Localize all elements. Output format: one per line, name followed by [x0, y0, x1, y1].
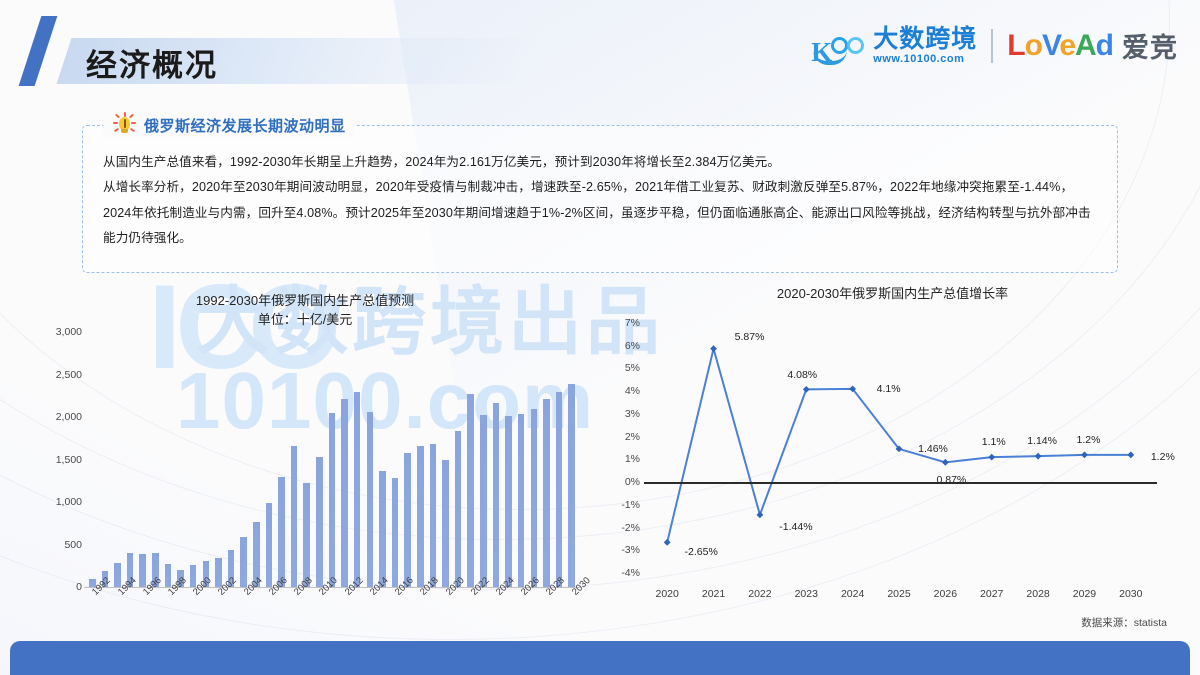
- line-y-tick: 2%: [625, 431, 640, 443]
- bar-column: [139, 554, 146, 587]
- callout-paragraph-1: 从国内生产总值来看，1992-2030年长期呈上升趋势，2024年为2.161万…: [103, 150, 1095, 175]
- callout-title: 俄罗斯经济发展长期波动明显: [144, 115, 346, 136]
- gdp-bar-chart: 1992-2030年俄罗斯国内生产总值预测 单位：十亿/美元 05001,000…: [20, 292, 590, 642]
- bar-column: [568, 384, 575, 587]
- line-y-tick: 0%: [625, 476, 640, 488]
- bar-column: [505, 416, 512, 587]
- bar-column: [165, 564, 172, 587]
- logo-lovead: LoVeAd 爱竞: [1007, 26, 1178, 65]
- logo-secondary-cn: 爱竞: [1122, 26, 1178, 65]
- bar-y-tick: 1,000: [56, 496, 82, 508]
- line-chart-plot-area: -2.65%5.87%-1.44%4.08%4.1%1.46%0.87%1.1%…: [644, 323, 1154, 573]
- bar-column: [367, 412, 374, 587]
- gdp-growth-line-chart: 2020-2030年俄罗斯国内生产总值增长率 7%6%5%4%3%2%1%0%-…: [600, 285, 1185, 645]
- line-chart-zero-line: [644, 482, 1157, 484]
- line-y-tick: 1%: [625, 453, 640, 465]
- line-x-tick: 2029: [1073, 588, 1096, 600]
- line-x-tick: 2025: [887, 588, 910, 600]
- bar-column: [291, 446, 298, 587]
- logo-primary-cn: 大数跨境: [873, 26, 977, 52]
- bar-column: [417, 446, 424, 587]
- bar-column: [480, 415, 487, 587]
- line-y-tick: -1%: [621, 499, 640, 511]
- line-x-tick: 2026: [934, 588, 957, 600]
- bar-column: [392, 478, 399, 587]
- bar-column: [266, 503, 273, 587]
- line-y-tick: -2%: [621, 522, 640, 534]
- bar-column: [556, 392, 563, 588]
- bar-column: [455, 431, 462, 587]
- bar-column: [215, 558, 222, 587]
- line-y-tick: 4%: [625, 385, 640, 397]
- line-x-tick: 2024: [841, 588, 864, 600]
- line-x-tick: 2030: [1119, 588, 1142, 600]
- bar-column: [341, 399, 348, 587]
- line-x-tick: 2028: [1026, 588, 1049, 600]
- insight-callout: 俄罗斯经济发展长期波动明显 从国内生产总值来看，1992-2030年长期呈上升趋…: [82, 125, 1118, 273]
- bar-column: [379, 471, 386, 587]
- line-y-tick: 6%: [625, 340, 640, 352]
- line-series-path: [667, 349, 1131, 543]
- bar-column: [543, 399, 550, 587]
- line-x-tick: 2021: [702, 588, 725, 600]
- bar-column: [493, 403, 500, 587]
- line-point-label: 1.14%: [1027, 435, 1057, 447]
- callout-header: 俄罗斯经济发展长期波动明显: [103, 113, 355, 137]
- line-chart-y-axis: 7%6%5%4%3%2%1%0%-1%-2%-3%-4%: [600, 323, 640, 573]
- callout-paragraph-2: 从增长率分析，2020年至2030年期间波动明显，2020年受疫情与制裁冲击，增…: [103, 175, 1095, 251]
- bar-column: [467, 394, 474, 587]
- bar-column: [303, 483, 310, 587]
- line-x-tick: 2022: [748, 588, 771, 600]
- line-data-point: [1081, 451, 1088, 458]
- bar-column: [329, 413, 336, 587]
- brand-logos: K 大数跨境 www.10100.com LoVeAd 爱竞: [811, 26, 1178, 65]
- line-x-tick: 2027: [980, 588, 1003, 600]
- line-data-point: [710, 345, 717, 352]
- line-data-point: [803, 386, 810, 393]
- line-y-tick: -3%: [621, 544, 640, 556]
- line-y-tick: 5%: [625, 362, 640, 374]
- bar-column: [518, 414, 525, 587]
- bar-column: [404, 453, 411, 587]
- bar-column: [354, 392, 361, 587]
- line-point-label: 4.1%: [877, 383, 901, 395]
- line-point-label: 1.1%: [982, 436, 1006, 448]
- line-point-label: -1.44%: [779, 521, 812, 533]
- bar-column: [316, 457, 323, 587]
- line-point-label: 1.2%: [1151, 451, 1175, 463]
- dashu-logo-icon: K: [811, 35, 867, 65]
- line-chart-x-axis: 2020202120222023202420252026202720282029…: [644, 588, 1154, 608]
- bar-y-tick: 2,000: [56, 411, 82, 423]
- bar-chart-plot-area: [86, 332, 578, 587]
- line-point-label: 1.46%: [918, 443, 948, 455]
- bar-chart-y-axis: 05001,0001,5002,0002,5003,000: [20, 332, 82, 587]
- line-chart-title: 2020-2030年俄罗斯国内生产总值增长率: [600, 285, 1185, 304]
- line-data-point: [664, 539, 671, 546]
- bar-column: [430, 444, 437, 587]
- line-data-point: [1127, 451, 1134, 458]
- bar-column: [442, 460, 449, 587]
- line-point-label: 5.87%: [735, 331, 765, 343]
- bar-y-tick: 2,500: [56, 369, 82, 381]
- line-data-point: [942, 459, 949, 466]
- bar-chart-title: 1992-2030年俄罗斯国内生产总值预测 单位：十亿/美元: [20, 292, 590, 330]
- logo-dashukuajing: K 大数跨境 www.10100.com: [811, 26, 977, 64]
- bar-column: [531, 409, 538, 588]
- lightbulb-icon: [112, 113, 136, 137]
- bar-column: [278, 477, 285, 588]
- line-x-tick: 2020: [655, 588, 678, 600]
- bar-y-tick: 0: [76, 581, 82, 593]
- line-y-tick: -4%: [621, 567, 640, 579]
- line-x-tick: 2023: [795, 588, 818, 600]
- bar-chart-x-axis: 1992199419961998200020022004200620082010…: [86, 590, 578, 640]
- line-y-tick: 3%: [625, 408, 640, 420]
- bar-y-tick: 3,000: [56, 326, 82, 338]
- line-data-point: [757, 511, 764, 518]
- bar-column: [240, 537, 247, 587]
- footer-bar: [10, 641, 1190, 675]
- line-point-label: 4.08%: [787, 369, 817, 381]
- line-data-point: [1035, 453, 1042, 460]
- logo-divider: [991, 29, 993, 63]
- source-note: 数据来源：statista: [1081, 615, 1167, 630]
- bar-y-tick: 500: [64, 539, 82, 551]
- line-point-label: -2.65%: [685, 546, 718, 558]
- bar-column: [114, 563, 121, 587]
- line-y-tick: 7%: [625, 317, 640, 329]
- line-point-label: 0.87%: [936, 474, 966, 486]
- logo-primary-url: www.10100.com: [873, 53, 977, 65]
- logo-secondary-word: LoVeAd: [1007, 29, 1113, 63]
- line-data-point: [988, 454, 995, 461]
- line-point-label: 1.2%: [1076, 434, 1100, 446]
- callout-body: 从国内生产总值来看，1992-2030年长期呈上升趋势，2024年为2.161万…: [83, 126, 1117, 252]
- page-title: 经济概况: [86, 40, 218, 85]
- bar-y-tick: 1,500: [56, 454, 82, 466]
